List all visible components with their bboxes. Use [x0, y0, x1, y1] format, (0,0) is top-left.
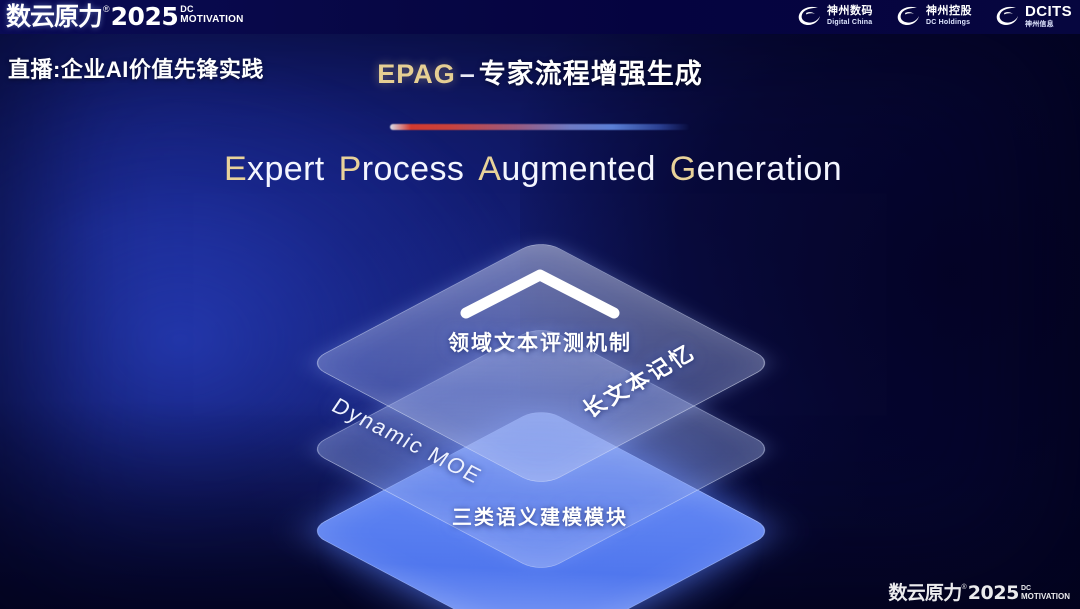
brand-logo: 数云原力 ® 2025 DC MOTIVATION: [6, 2, 244, 32]
subtitle-word-augmented: Augmented: [478, 150, 656, 188]
title-acronym: EPAG: [377, 59, 456, 89]
watermark-name-cn: 数云原力: [888, 582, 961, 605]
subtitle-word-rest: rocess: [362, 150, 465, 188]
subtitle-word-generation: Generation: [670, 150, 842, 188]
watermark-year: 2025: [968, 582, 1019, 605]
brand-dc-label: DC: [180, 5, 243, 14]
subtitle-initial: G: [670, 150, 697, 188]
partner-text: DCITS 神州信息: [1025, 4, 1072, 28]
subtitle-word-process: Process: [339, 150, 465, 188]
partner-name-en: DCITS: [1025, 4, 1072, 19]
watermark-registered-mark: ®: [962, 582, 967, 593]
live-broadcast-title: 直播:企业AI价值先锋实践: [8, 52, 264, 84]
title-chinese: 专家流程增强生成: [479, 59, 703, 89]
watermark-motivation-label: MOTIVATION: [1021, 592, 1070, 601]
watermark-dc-motivation: DC MOTIVATION: [1021, 585, 1070, 601]
brand-registered-mark: ®: [103, 2, 110, 16]
partner-logo-group: 神州数码 Digital China 神州控股 DC Holdings DCIT…: [796, 4, 1072, 28]
partner-name-en: Digital China: [827, 19, 873, 26]
diagram-layer-bottom-label: 三类语义建模模块: [442, 501, 638, 530]
layered-architecture-diagram: 领域文本评测机制 Dynamic MOE 长文本记忆 三类语义建模模块: [248, 205, 832, 605]
partner-name-cn: 神州数码: [827, 6, 873, 17]
subtitle-initial: E: [224, 150, 247, 188]
subtitle-word-expert: Expert: [224, 150, 325, 188]
subtitle-word-rest: ugmented: [501, 150, 655, 188]
chevron-up-icon: [456, 265, 624, 321]
partner-name-cn: 神州信息: [1025, 21, 1072, 28]
partner-text: 神州数码 Digital China: [827, 6, 873, 26]
brand-name-cn: 数云原力: [6, 2, 102, 32]
title-dash: –: [460, 59, 475, 89]
subtitle-word-rest: xpert: [247, 150, 325, 188]
brand-dc-motivation: DC MOTIVATION: [180, 5, 243, 25]
subtitle-initial: A: [478, 150, 501, 188]
partner-name-en: DC Holdings: [926, 19, 972, 26]
subtitle: ExpertProcessAugmentedGeneration: [0, 150, 1080, 189]
swirl-logo-icon: [895, 5, 921, 27]
subtitle-initial: P: [339, 150, 362, 188]
swirl-logo-icon: [796, 5, 822, 27]
watermark-dc-label: DC: [1021, 585, 1070, 592]
divider-bar: [390, 124, 690, 130]
diagram-layer-top-label: 领域文本评测机制: [445, 327, 635, 357]
brand-motivation-label: MOTIVATION: [180, 14, 243, 25]
partner-text: 神州控股 DC Holdings: [926, 6, 972, 26]
slide-canvas: 数云原力 ® 2025 DC MOTIVATION 直播:企业AI价值先锋实践 …: [0, 0, 1080, 609]
swirl-logo-icon: [994, 5, 1020, 27]
partner-logo-dc-holdings: 神州控股 DC Holdings: [895, 5, 972, 27]
partner-logo-digital-china: 神州数码 Digital China: [796, 5, 873, 27]
partner-logo-dcits: DCITS 神州信息: [994, 4, 1072, 28]
brand-year: 2025: [111, 2, 179, 32]
watermark-logo: 数云原力 ® 2025 DC MOTIVATION: [888, 582, 1070, 605]
subtitle-word-rest: eneration: [697, 150, 842, 188]
partner-name-cn: 神州控股: [926, 6, 972, 17]
